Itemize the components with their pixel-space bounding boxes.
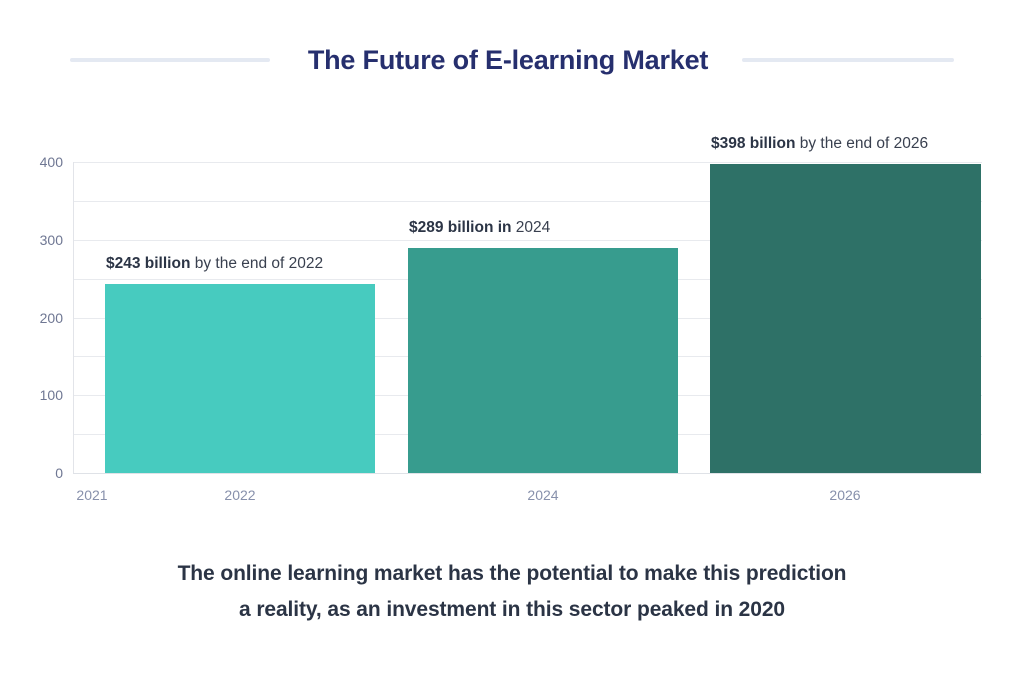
bar-annotation-value: $398 billion [711, 135, 795, 152]
bar-annotation-text: by the end of 2022 [190, 255, 323, 272]
chart-caption: The online learning market has the poten… [0, 556, 1024, 628]
bar-series [0, 162, 1024, 473]
bar-annotation-value: $243 billion [106, 255, 190, 272]
x-axis-tick-label: 2022 [224, 487, 255, 503]
bar-annotation-text: by the end of 2026 [795, 135, 928, 152]
caption-line-2: a reality, as an investment in this sect… [0, 592, 1024, 628]
bar-annotation-2024: $289 billion in 2024 [409, 220, 550, 236]
bar-annotation-text: 2024 [512, 219, 551, 236]
bar-2026[interactable] [710, 164, 981, 473]
bar-annotation-2022: $243 billion by the end of 2022 [106, 256, 323, 272]
bar-annotation-2026: $398 billion by the end of 2026 [711, 136, 928, 152]
bar-annotation-value: $289 billion in [409, 219, 512, 236]
bar-2024[interactable] [408, 248, 678, 473]
x-axis-tick-label: 2024 [527, 487, 558, 503]
x-axis-tick-label: 2026 [829, 487, 860, 503]
x-axis-tick-label: 2021 [76, 487, 107, 503]
caption-line-1: The online learning market has the poten… [0, 556, 1024, 592]
x-axis-line [73, 473, 981, 474]
bar-2022[interactable] [105, 284, 375, 473]
